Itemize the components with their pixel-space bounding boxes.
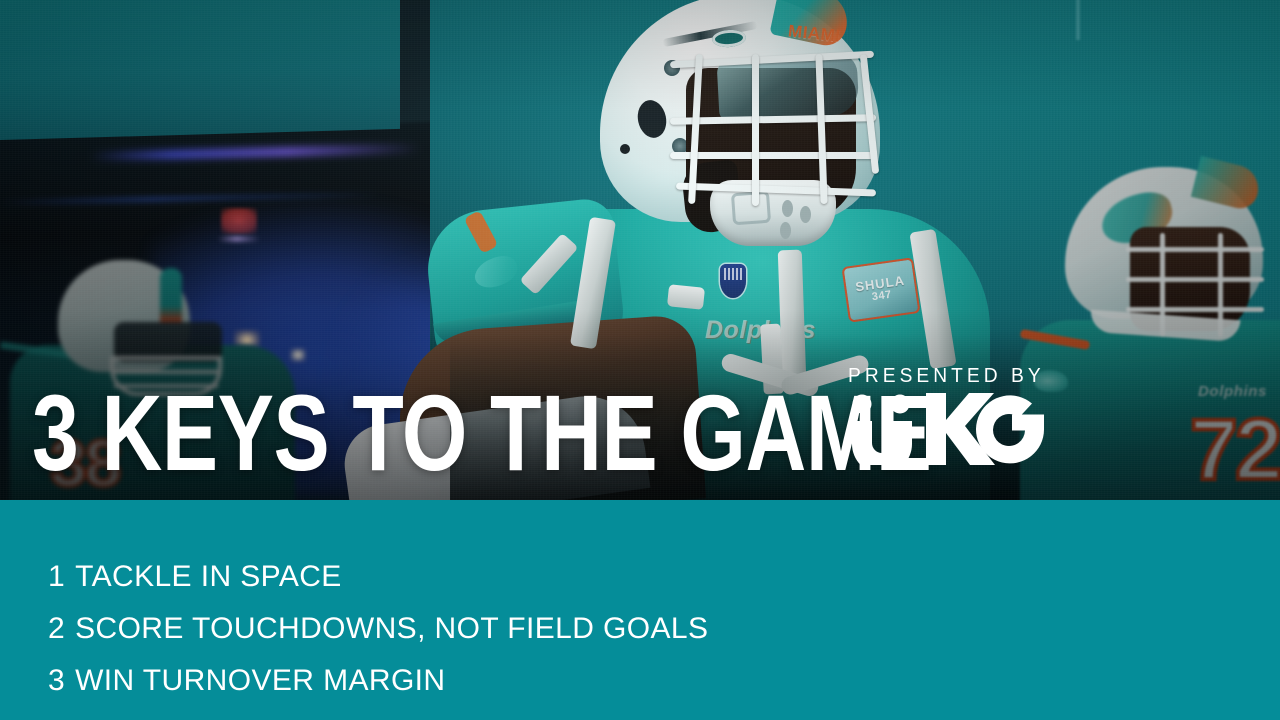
player-right-jersey-number: 72 xyxy=(1190,407,1280,493)
helmet-facemask-icon xyxy=(670,40,876,230)
key-number: 2 xyxy=(48,614,65,644)
player-left-helmet xyxy=(58,260,190,372)
helmet-facemask-icon xyxy=(110,356,222,396)
tunnel-upper-wall xyxy=(0,0,400,140)
nfl-shield-icon xyxy=(720,264,746,298)
player-right-jersey-wordmark: Dolphins xyxy=(1198,383,1267,400)
memorial-patch-number: 347 xyxy=(871,290,892,304)
helmet-stripe xyxy=(160,268,182,322)
main-player-helmet: MIAMI xyxy=(600,0,880,244)
keys-list: 1 TACKLE IN SPACE 2 SCORE TOUCHDOWNS, NO… xyxy=(48,562,708,696)
key-text: TACKLE IN SPACE xyxy=(75,562,342,592)
background-player-left: 38 xyxy=(10,250,300,500)
key-number: 1 xyxy=(48,562,65,592)
key-text: WIN TURNOVER MARGIN xyxy=(75,666,445,696)
ukg-logo-svg xyxy=(848,393,1048,465)
key-item-1: 1 TACKLE IN SPACE xyxy=(48,562,708,592)
keys-panel: 1 TACKLE IN SPACE 2 SCORE TOUCHDOWNS, NO… xyxy=(0,500,1280,720)
key-text: SCORE TOUCHDOWNS, NOT FIELD GOALS xyxy=(75,614,708,644)
player-left-jersey-number: 38 xyxy=(50,425,170,495)
presented-by-label: PRESENTED BY xyxy=(848,366,1045,386)
shula-memorial-patch: SHULA 347 xyxy=(841,257,920,322)
ukg-smile-logo-icon xyxy=(848,393,1048,465)
helmet-ear-hole xyxy=(620,144,630,154)
key-item-3: 3 WIN TURNOVER MARGIN xyxy=(48,666,708,696)
hero-photo: 38 Dolphins 72 xyxy=(0,0,1280,500)
background-player-right: Dolphins 72 xyxy=(1030,175,1280,500)
key-item-2: 2 SCORE TOUCHDOWNS, NOT FIELD GOALS xyxy=(48,614,708,644)
strap-buckle xyxy=(667,284,705,310)
key-number: 3 xyxy=(48,666,65,696)
three-keys-graphic: 38 Dolphins 72 xyxy=(0,0,1280,720)
sponsor-lockup: PRESENTED BY xyxy=(848,366,1053,465)
